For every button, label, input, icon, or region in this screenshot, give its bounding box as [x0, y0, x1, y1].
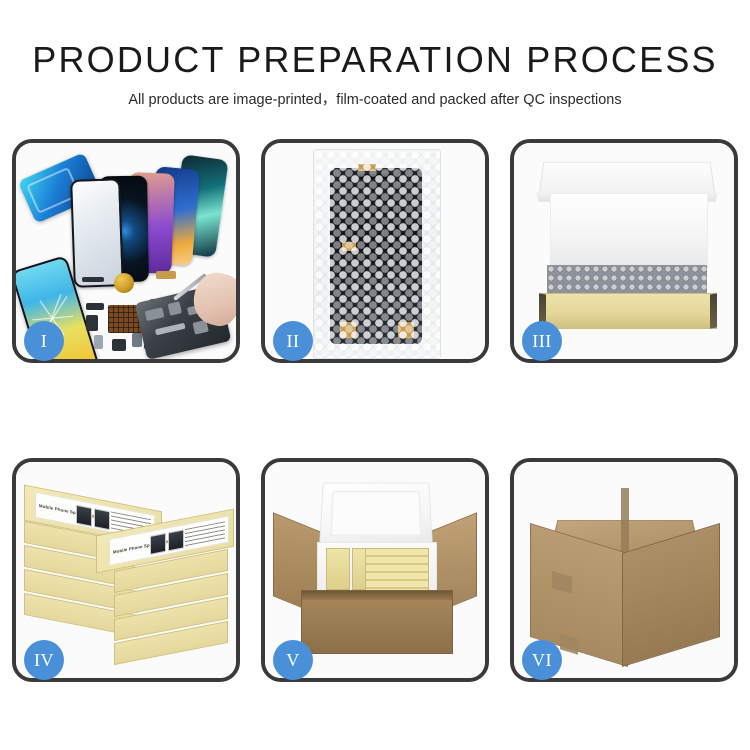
- part-camera: [112, 339, 126, 351]
- page-title: PRODUCT PREPARATION PROCESS: [0, 38, 750, 82]
- step-panel-1: I: [12, 139, 240, 363]
- kraft-box-front: [539, 293, 717, 329]
- part-battery-connector: [132, 333, 142, 347]
- carton-body: [301, 590, 453, 654]
- step-panel-5: V: [261, 458, 489, 682]
- sealed-carton: [530, 486, 720, 656]
- step-badge-5: V: [273, 640, 313, 680]
- step-badge-4: IV: [24, 640, 64, 680]
- step-badge-3: III: [522, 321, 562, 361]
- page-subtitle: All products are image-printed，film-coat…: [0, 89, 750, 111]
- part-bracket: [86, 315, 98, 331]
- header: PRODUCT PREPARATION PROCESS All products…: [0, 38, 750, 111]
- packed-boxes-flat: [365, 548, 429, 592]
- foam-cooler-lid: [319, 483, 433, 546]
- step-panel-4: Mobile Phone Spare Parts Mobile Phone Sp…: [12, 458, 240, 682]
- foam-sheet: [550, 193, 708, 269]
- steps-grid: I II: [12, 139, 738, 682]
- bubble-wrap-bag: [313, 149, 441, 359]
- step-badge-2: II: [273, 321, 313, 361]
- part-flex-cable: [156, 271, 176, 279]
- part-strip: [82, 277, 104, 282]
- step-panel-3: III: [510, 139, 738, 363]
- step-badge-6: VI: [522, 640, 562, 680]
- bubble-texture-overlay: [314, 150, 440, 358]
- part-sim-tray: [94, 335, 103, 349]
- speaker-mesh-icon: [114, 273, 134, 293]
- bubble-wrap-layer: [547, 265, 707, 295]
- carton-top-seam: [621, 488, 629, 552]
- step-panel-6: VI: [510, 458, 738, 682]
- phone-glass-panel: [70, 178, 124, 288]
- step-panel-2: II: [261, 139, 489, 363]
- part-module: [86, 303, 104, 310]
- step-badge-1: I: [24, 321, 64, 361]
- product-preparation-infographic: PRODUCT PREPARATION PROCESS All products…: [0, 0, 750, 750]
